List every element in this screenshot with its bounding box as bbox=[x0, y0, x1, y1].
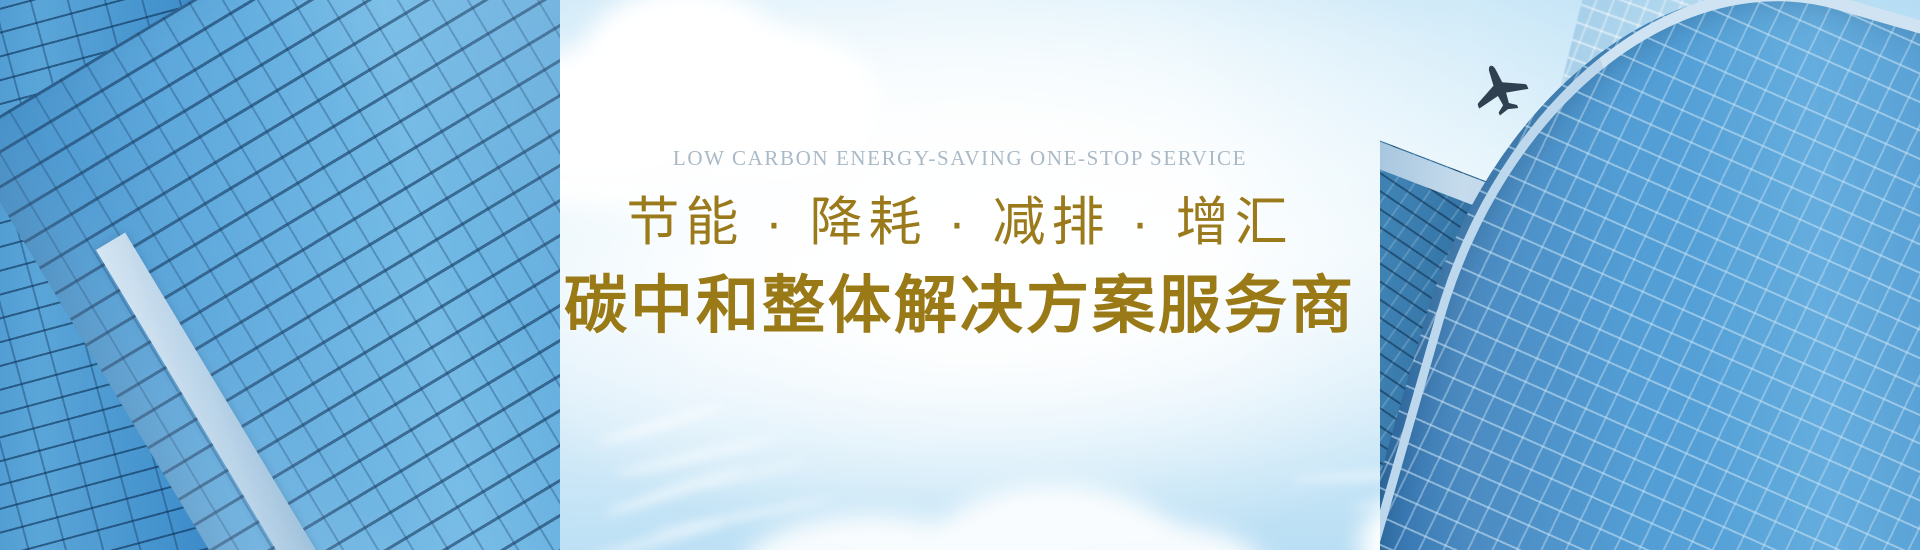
hero-banner: LOW CARBON ENERGY-SAVING ONE-STOP SERVIC… bbox=[0, 0, 1920, 550]
banner-headline-primary: 节能 · 降耗 · 减排 · 增汇 bbox=[0, 196, 1920, 249]
banner-headline-secondary: 碳中和整体解决方案服务商 bbox=[0, 275, 1920, 338]
banner-text-block: LOW CARBON ENERGY-SAVING ONE-STOP SERVIC… bbox=[0, 148, 1920, 338]
banner-eyebrow: LOW CARBON ENERGY-SAVING ONE-STOP SERVIC… bbox=[0, 148, 1920, 169]
